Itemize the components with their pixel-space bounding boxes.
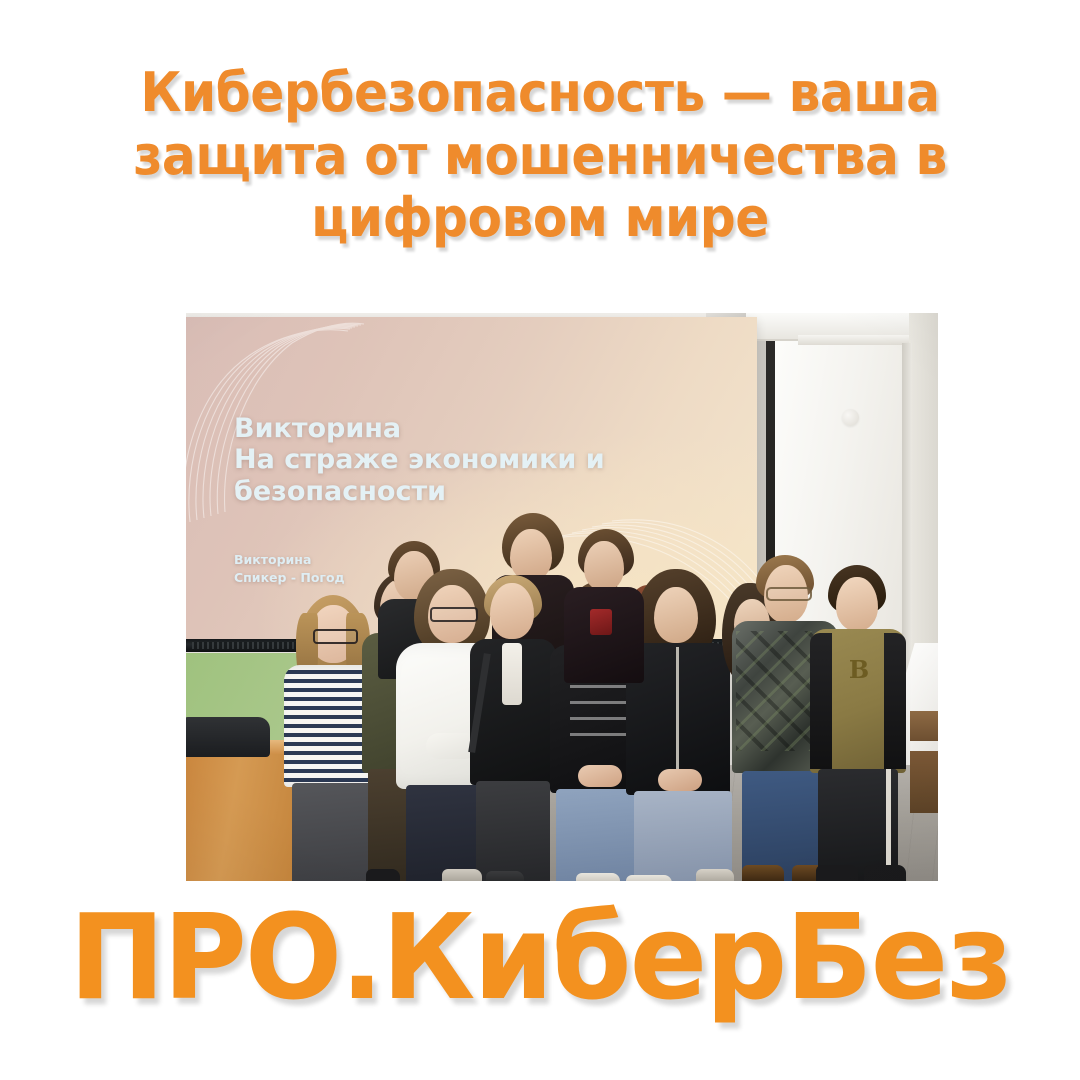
person-6-shirt xyxy=(502,643,522,705)
poster-root: Кибербезопасность — ваша защита от мошен… xyxy=(0,0,1080,1080)
wall-fixture-icon xyxy=(842,409,859,426)
shoe-white-sneaker-3 xyxy=(696,869,734,881)
shoe-white-sneaker-2 xyxy=(626,875,672,881)
person-12-sleeve-right xyxy=(884,633,906,769)
screen-subtitle-line2: Спикер - Погод xyxy=(234,570,345,585)
photo-canvas: Викторина На страже экономики и безопасн… xyxy=(186,313,938,881)
wooden-cabinet-top xyxy=(910,711,938,741)
person-9-zipper xyxy=(676,647,679,789)
screen-subtitle-line1: Викторина xyxy=(234,552,311,567)
wooden-cabinet xyxy=(910,751,938,813)
person-13-logo-icon xyxy=(590,609,612,635)
shoe-white-sneaker-1 xyxy=(576,873,620,881)
person-12-logo-icon: B xyxy=(846,655,872,685)
group-photo: Викторина На страже экономики и безопасн… xyxy=(186,313,938,881)
page-title: Кибербезопасность — ваша защита от мошен… xyxy=(94,62,987,250)
person-12-pant-stripe xyxy=(886,769,891,879)
shoe-dark-1 xyxy=(486,871,524,881)
office-chair xyxy=(186,717,270,757)
person-12-sleeve-left xyxy=(810,633,832,769)
screen-title: Викторина На страже экономики и безопасн… xyxy=(234,413,605,507)
shoe-left-sneaker xyxy=(442,869,482,881)
brand-title: ПРО.КиберБез xyxy=(16,898,1064,1016)
